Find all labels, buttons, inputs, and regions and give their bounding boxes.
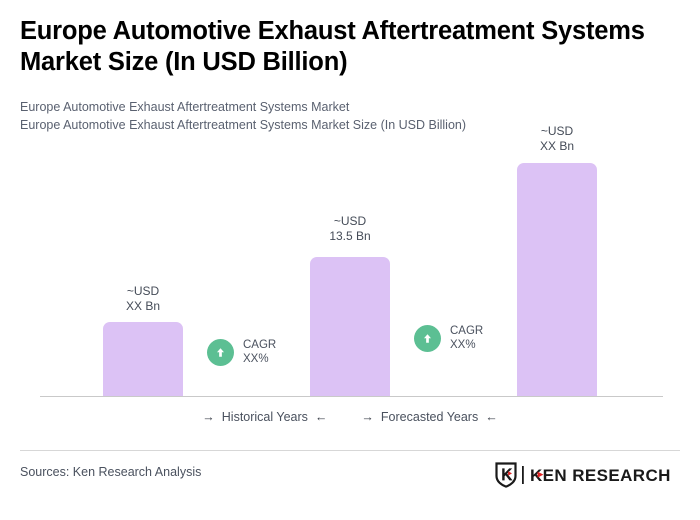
sources-text: Sources: Ken Research Analysis xyxy=(20,465,201,479)
bar-value-amount-1: XX Bn xyxy=(103,299,183,314)
cagr-value-2: XX% xyxy=(450,339,476,351)
arrow-left-icon: ← xyxy=(485,411,498,424)
bar-chart-plot: ~USD XX Bn CAGR XX% ~USD 13.5 Bn xyxy=(0,0,700,400)
cagr-text-2: CAGR XX% xyxy=(450,324,483,352)
legend-item-historical[interactable]: → Historical Years ← xyxy=(202,410,327,424)
chart-page: Europe Automotive Exhaust Aftertreatment… xyxy=(0,0,700,520)
ken-research-wordmark: KEN RESEARCH xyxy=(522,465,674,485)
bar-1[interactable] xyxy=(103,322,183,396)
arrow-up-icon xyxy=(414,325,441,352)
cagr-value-1: XX% xyxy=(243,353,269,365)
bar-value-amount-3: XX Bn xyxy=(517,139,597,154)
brand-logo: KEN RESEARCH xyxy=(495,462,674,488)
legend-label-historical: Historical Years xyxy=(222,410,308,424)
arrow-right-icon: → xyxy=(202,411,215,424)
cagr-text-1: CAGR XX% xyxy=(243,338,276,366)
cagr-label-1: CAGR xyxy=(243,339,276,351)
bar-value-currency-1: ~USD xyxy=(103,284,183,299)
arrow-right-icon: → xyxy=(361,411,374,424)
footer-divider xyxy=(20,450,680,451)
bar-value-currency-3: ~USD xyxy=(517,124,597,139)
axis-baseline xyxy=(40,396,663,397)
bar-3[interactable] xyxy=(517,163,597,396)
legend-label-forecasted: Forecasted Years xyxy=(381,410,478,424)
cagr-annotation-2: CAGR XX% xyxy=(414,324,483,352)
svg-text:KEN RESEARCH: KEN RESEARCH xyxy=(530,466,671,485)
bar-value-amount-2: 13.5 Bn xyxy=(310,229,390,244)
bar-2[interactable] xyxy=(310,257,390,396)
legend-item-forecasted[interactable]: → Forecasted Years ← xyxy=(361,410,497,424)
bar-value-label-2: ~USD 13.5 Bn xyxy=(310,214,390,243)
bar-value-currency-2: ~USD xyxy=(310,214,390,229)
period-legend: → Historical Years ← → Forecasted Years … xyxy=(0,410,700,424)
cagr-annotation-1: CAGR XX% xyxy=(207,338,276,366)
arrow-up-icon xyxy=(207,339,234,366)
ken-research-shield-icon xyxy=(495,462,517,488)
bar-value-label-1: ~USD XX Bn xyxy=(103,284,183,313)
cagr-label-2: CAGR xyxy=(450,325,483,337)
bar-value-label-3: ~USD XX Bn xyxy=(517,124,597,153)
arrow-left-icon: ← xyxy=(315,411,328,424)
